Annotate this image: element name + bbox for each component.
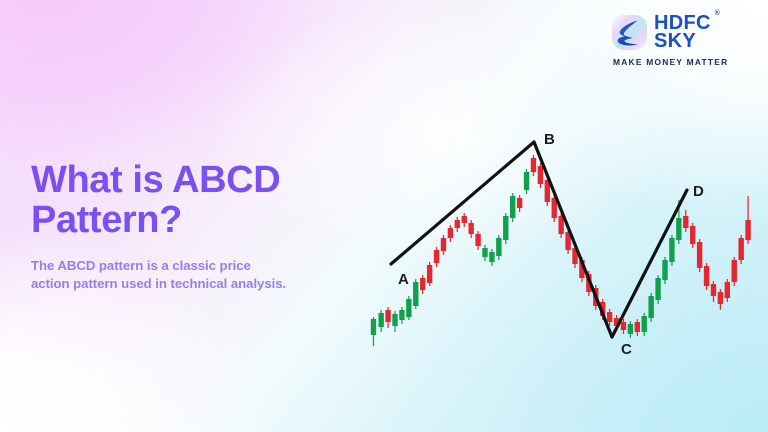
candle-body-up [489, 252, 494, 262]
page-title: What is ABCD Pattern? [31, 160, 361, 241]
page-subtitle: The ABCD pattern is a classic price acti… [31, 257, 361, 294]
candle-body-down [455, 220, 460, 228]
candle-body-down [635, 322, 640, 332]
brand-tagline: MAKE MONEY MATTER [613, 57, 751, 67]
page-subtitle-line1: The ABCD pattern is a classic price [31, 258, 251, 273]
vertex-label-a: A [398, 272, 409, 287]
candle-body-up [406, 299, 411, 317]
candle-body-up [392, 314, 397, 326]
registered-trademark-icon: ® [715, 11, 720, 17]
candle-body-up [496, 238, 501, 256]
brand-logo-row: HDFC SKY ® [611, 12, 751, 52]
candle-body-down [427, 265, 432, 283]
candle-body-down [531, 158, 536, 172]
candle-body-down [621, 322, 626, 330]
candle-body-down [738, 238, 743, 260]
candle-body-down [745, 220, 750, 240]
candle-body-up [510, 196, 515, 218]
candle-body-up [371, 319, 376, 335]
candle-body-down [697, 242, 702, 268]
candle-body-down [711, 284, 716, 296]
candle-body-down [517, 198, 522, 208]
page-title-line1: What is ABCD [31, 159, 280, 201]
candle-body-down [725, 282, 730, 298]
candlestick-chart: ABCD [360, 110, 760, 370]
page-title-line2: Pattern? [31, 199, 182, 241]
infographic-canvas: HDFC SKY ® MAKE MONEY MATTER What is ABC… [0, 0, 768, 432]
candle-body-up [655, 278, 660, 300]
brand-name-line2: SKY [654, 32, 711, 50]
candle-body-down [385, 310, 390, 322]
candle-body-down [690, 226, 695, 244]
brand-wordmark: HDFC SKY ® [654, 14, 711, 51]
vertex-label-c: C [621, 342, 632, 357]
candle-body-down [683, 216, 688, 228]
vertex-label-b: B [544, 132, 555, 147]
candle-body-up [524, 172, 529, 190]
candle-body-down [468, 223, 473, 234]
candle-body-up [669, 238, 674, 262]
trendline-BC [534, 142, 612, 337]
candle-body-up [482, 248, 487, 257]
candle-body-up [648, 296, 653, 318]
page-subtitle-line2: action pattern used in technical analysi… [31, 276, 286, 291]
candlestick-chart-svg [360, 110, 760, 370]
brand-logo[interactable]: HDFC SKY ® MAKE MONEY MATTER [611, 12, 751, 70]
hdfc-sky-swirl-logo-icon [611, 14, 648, 51]
candle-body-down [448, 228, 453, 238]
candle-body-down [538, 166, 543, 184]
headline-block: What is ABCD Pattern? The ABCD pattern i… [31, 160, 361, 294]
candle-body-down [420, 278, 425, 290]
candle-body-down [732, 260, 737, 282]
candle-body-down [434, 250, 439, 263]
candle-body-up [628, 324, 633, 334]
candle-body-down [607, 312, 612, 322]
candle-body-up [378, 313, 383, 327]
candle-body-up [676, 218, 681, 240]
candle-body-down [718, 292, 723, 304]
candle-body-down [475, 234, 480, 246]
candle-body-down [441, 238, 446, 251]
candle-body-up [662, 260, 667, 280]
vertex-label-d: D [693, 184, 704, 199]
candle-body-down [462, 216, 467, 223]
candle-body-up [399, 310, 404, 320]
candle-body-up [642, 316, 647, 332]
candle-body-up [503, 216, 508, 240]
candle-body-down [704, 266, 709, 286]
candle-body-up [413, 282, 418, 306]
